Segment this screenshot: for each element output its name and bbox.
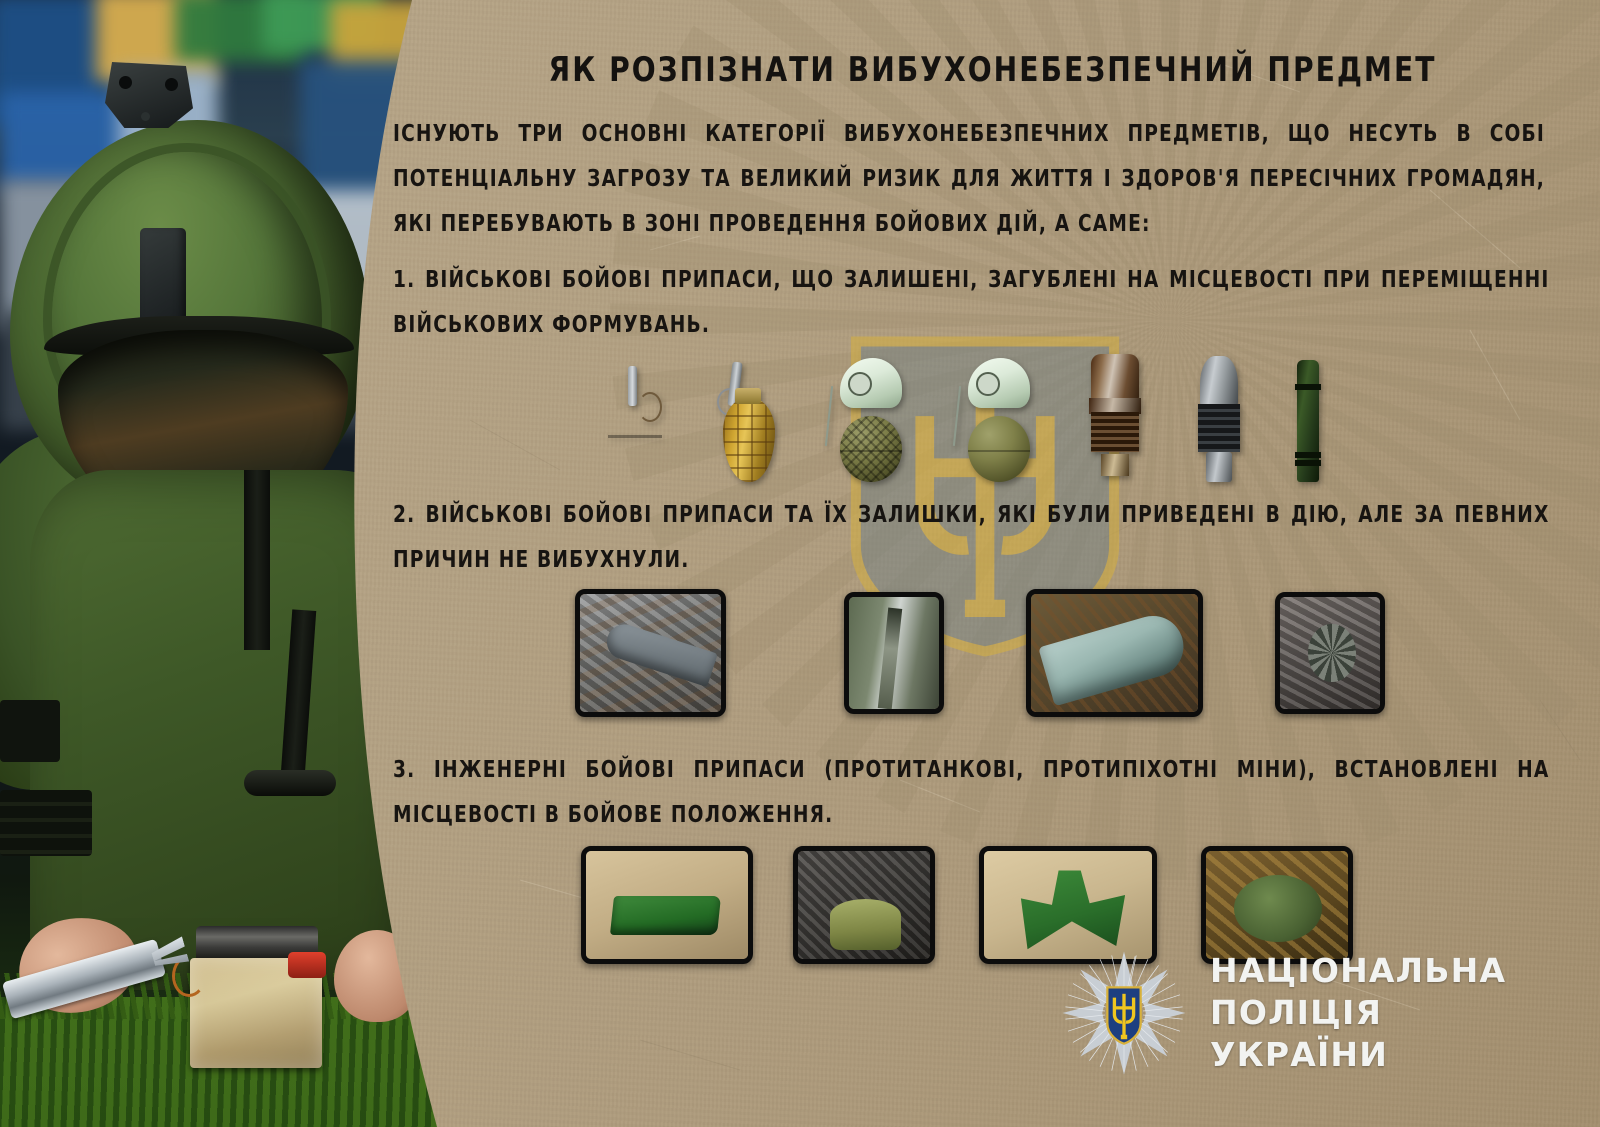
artillery-fuze-image (1190, 356, 1248, 482)
mon-50-directional-mine-photo (581, 846, 753, 964)
list-item-1: 1. Військові бойові припаси, що залишені… (393, 258, 1550, 348)
brand-lockup: НАЦІОНАЛЬНА ПОЛІЦІЯ УКРАЇНИ (1060, 948, 1550, 1078)
red-detonator (288, 952, 326, 978)
brand-line-1: НАЦІОНАЛЬНА (1210, 950, 1550, 992)
list-item-2-number: 2. (393, 502, 415, 528)
list-item-3-number: 3. (393, 757, 415, 783)
list-item-2: 2. Військові бойові припаси та їх залишк… (393, 493, 1550, 583)
eod-suit-velcro-patch (0, 700, 60, 762)
unexploded-aerial-bomb-photo (1026, 589, 1204, 717)
green-rocket-projectile-image (1291, 360, 1325, 482)
rgd5-grenade-image (600, 362, 670, 482)
list-item-1-number: 1. (393, 267, 415, 293)
intro-paragraph: Існують три основні категорії вибухонебе… (393, 112, 1545, 247)
national-police-of-ukraine-emblem (1060, 949, 1188, 1077)
pmn-pressure-mine-photo (793, 846, 935, 964)
uxo-photo-row (575, 588, 1385, 718)
rgo-grenade-textured-image (826, 358, 912, 482)
mortar-tail-fin-in-ground-photo (1275, 592, 1385, 714)
eod-helmet-top-bracket (105, 62, 193, 128)
uxo-bomb-in-rubble-photo (575, 589, 726, 717)
list-item-1-text: Військові бойові припаси, що залишені, з… (393, 267, 1550, 338)
eod-suit-drag-handle (244, 770, 336, 796)
list-item-3-text: Інженерні бойові припаси (протитанкові, … (393, 757, 1550, 828)
munitions-illustration-row (600, 352, 1325, 482)
buried-mine-in-foliage-photo (1201, 846, 1353, 964)
brand-name: НАЦІОНАЛЬНА ПОЛІЦІЯ УКРАЇНИ (1210, 950, 1550, 1076)
vog-grenade-round-image (1083, 354, 1147, 482)
eod-suit-velcro-patch (0, 790, 92, 856)
mine-photo-row (581, 845, 1381, 965)
page-title: ЯК РОЗПІЗНАТИ ВИБУХОНЕБЕЗПЕЧНИЙ ПРЕДМЕТ (434, 50, 1552, 90)
list-item-2-text: Військові бойові припаси та їх залишки, … (393, 502, 1550, 573)
eod-suit-strap (244, 470, 270, 650)
infographic-poster: ЯК РОЗПІЗНАТИ ВИБУХОНЕБЕЗПЕЧНИЙ ПРЕДМЕТ … (0, 0, 1600, 1127)
pfm-butterfly-mine-photo (979, 846, 1157, 964)
uxo-rocket-beside-truck-photo (844, 592, 944, 714)
rgn-grenade-smooth-image (954, 358, 1040, 482)
list-item-3: 3. Інженерні бойові припаси (протитанков… (393, 748, 1550, 838)
f1-grenade-image (713, 360, 783, 482)
brand-line-2: ПОЛІЦІЯ УКРАЇНИ (1210, 992, 1550, 1076)
